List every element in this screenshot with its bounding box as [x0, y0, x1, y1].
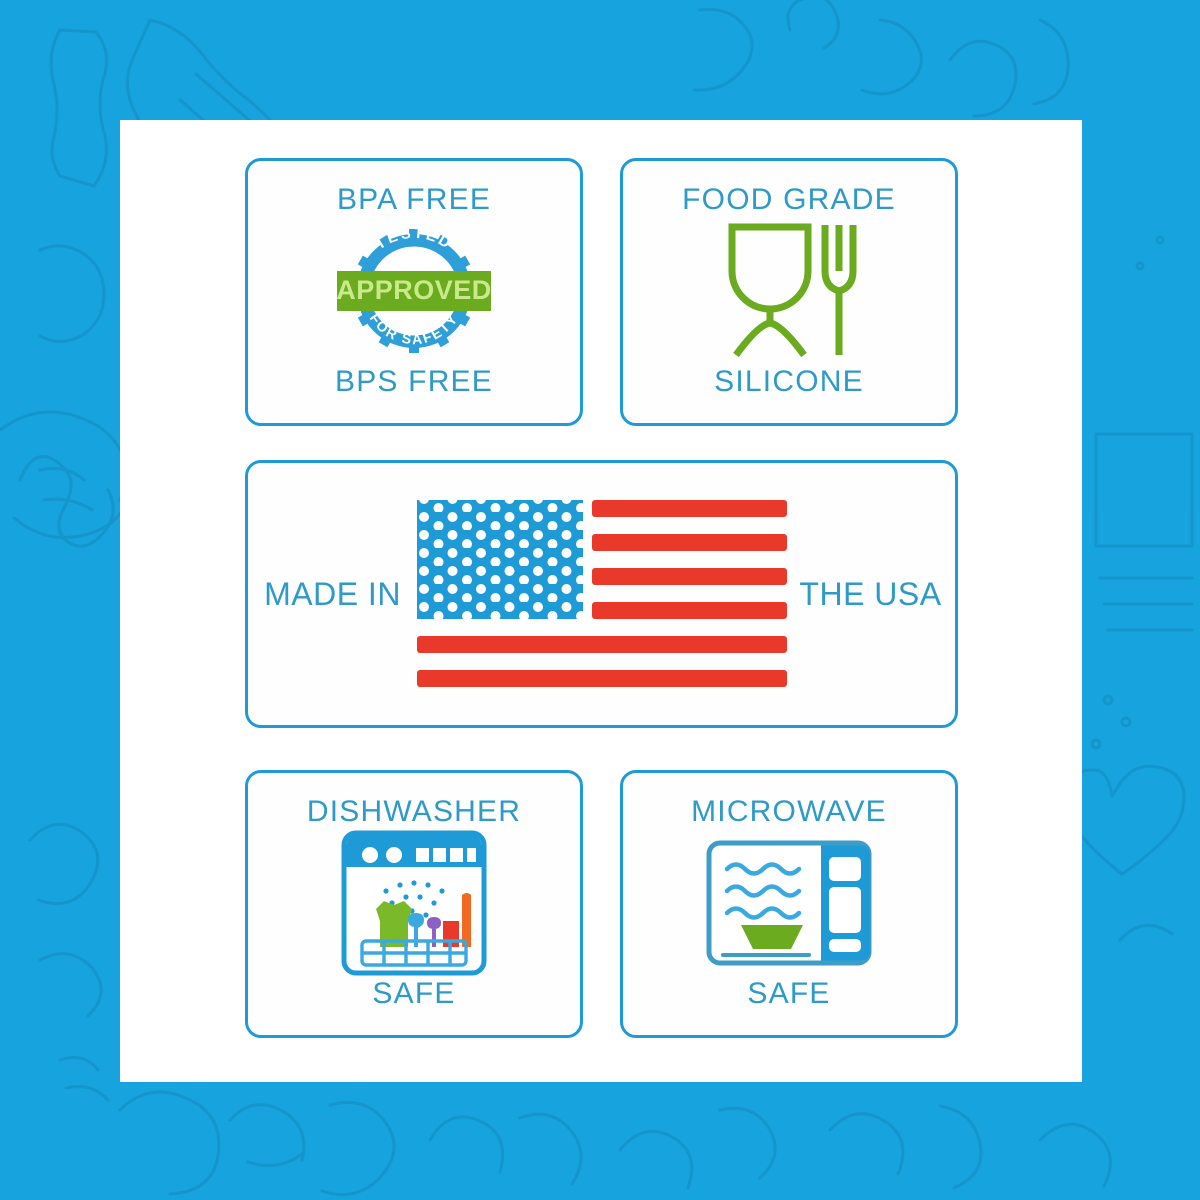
microwave-label-bottom: SAFE	[747, 979, 830, 1035]
badge-panel: BPA FREE	[120, 120, 1082, 1082]
microwave-label-top: MICROWAVE	[691, 773, 887, 827]
food-label-top: FOOD GRADE	[682, 161, 896, 215]
badge-card-microwave-safe[interactable]: MICROWAVE	[620, 770, 958, 1038]
badge-card-dishwasher-safe[interactable]: DISHWASHER	[245, 770, 583, 1038]
food-label-bottom: SILICONE	[714, 367, 864, 423]
food-art	[623, 215, 955, 367]
glass-and-fork-icon	[714, 219, 864, 364]
badge-card-bpa-free[interactable]: BPA FREE	[245, 158, 583, 426]
approved-seal-icon: TESTED FOR SAFETY APPROVED	[329, 221, 499, 361]
usa-text-right: THE USA	[787, 578, 955, 610]
badge-card-made-in-usa[interactable]: MADE IN THE USA	[245, 460, 958, 728]
microwave-icon	[705, 839, 873, 967]
microwave-art	[623, 827, 955, 979]
dishwasher-icon	[340, 829, 488, 977]
bpa-label-top: BPA FREE	[337, 161, 491, 215]
usa-text-left: MADE IN	[249, 578, 417, 610]
dishwasher-label-bottom: SAFE	[372, 979, 455, 1035]
bpa-art: TESTED FOR SAFETY APPROVED	[248, 215, 580, 367]
badge-card-food-grade[interactable]: FOOD GRADE SILICONE	[620, 158, 958, 426]
usa-flag-icon	[417, 494, 787, 694]
seal-banner-text: APPROVED	[336, 275, 492, 305]
dishwasher-label-top: DISHWASHER	[307, 773, 521, 827]
dishwasher-art	[248, 827, 580, 979]
bpa-label-bottom: BPS FREE	[335, 367, 493, 423]
